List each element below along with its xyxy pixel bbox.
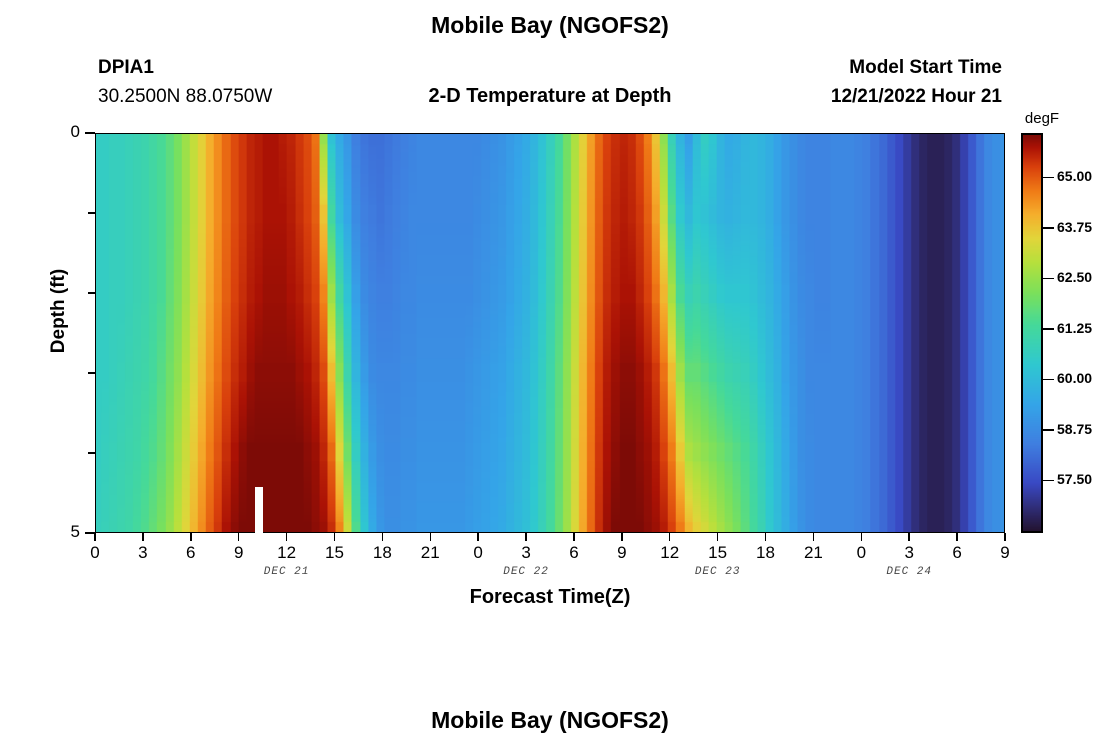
x-axis-tick	[286, 533, 288, 541]
x-axis-label: Forecast Time(Z)	[300, 586, 800, 609]
y-axis-minor-tick	[88, 292, 95, 294]
x-axis-tick	[573, 533, 575, 541]
y-axis-tick-label: 5	[40, 522, 80, 542]
x-axis-tick	[142, 533, 144, 541]
x-axis-tick-label: 21	[410, 543, 450, 563]
x-axis-date-label: DEC 22	[466, 566, 586, 578]
x-axis-tick-label: 12	[267, 543, 307, 563]
colorbar-tick-label: 62.50	[1057, 269, 1100, 285]
x-axis-tick-label: 3	[889, 543, 929, 563]
colorbar-tick	[1043, 177, 1054, 179]
x-axis-tick	[525, 533, 527, 541]
colorbar	[1021, 133, 1043, 533]
x-axis-tick-label: 0	[458, 543, 498, 563]
x-axis-tick-label: 6	[171, 543, 211, 563]
y-axis-tick-label: 0	[40, 122, 80, 142]
x-axis-date-label: DEC 24	[849, 566, 969, 578]
x-axis-tick	[334, 533, 336, 541]
x-axis-tick	[621, 533, 623, 541]
x-axis-tick-label: 0	[75, 543, 115, 563]
x-axis-tick-label: 15	[314, 543, 354, 563]
colorbar-tick-label: 60.00	[1057, 370, 1100, 386]
colorbar-tick	[1043, 480, 1054, 482]
x-axis-tick	[1004, 533, 1006, 541]
x-axis-tick	[477, 533, 479, 541]
x-axis-tick-label: 6	[554, 543, 594, 563]
x-axis-tick	[238, 533, 240, 541]
x-axis-tick	[956, 533, 958, 541]
no-data-gap	[255, 487, 263, 533]
colorbar-tick-label: 58.75	[1057, 421, 1100, 437]
x-axis-date-label: DEC 21	[227, 566, 347, 578]
colorbar-tick	[1043, 278, 1054, 280]
temperature-depth-heatmap	[95, 133, 1005, 533]
x-axis-tick	[430, 533, 432, 541]
colorbar-title: degF	[1002, 110, 1082, 127]
x-axis-tick	[669, 533, 671, 541]
x-axis-tick	[813, 533, 815, 541]
x-axis-tick-label: 18	[362, 543, 402, 563]
x-axis-tick-label: 9	[985, 543, 1025, 563]
main-title: Mobile Bay (NGOFS2)	[0, 12, 1100, 39]
x-axis-tick	[94, 533, 96, 541]
x-axis-tick	[382, 533, 384, 541]
colorbar-tick-label: 63.75	[1057, 219, 1100, 235]
colorbar-tick	[1043, 328, 1054, 330]
x-axis-tick-label: 15	[698, 543, 738, 563]
colorbar-canvas	[1023, 135, 1041, 531]
x-axis-date-label: DEC 23	[658, 566, 778, 578]
y-axis-minor-tick	[88, 212, 95, 214]
x-axis-tick	[765, 533, 767, 541]
x-axis-tick-label: 21	[793, 543, 833, 563]
x-axis-tick	[908, 533, 910, 541]
x-axis-tick-label: 0	[841, 543, 881, 563]
station-id: DPIA1	[98, 57, 154, 79]
x-axis-tick-label: 9	[602, 543, 642, 563]
heatmap-canvas	[96, 134, 1004, 532]
colorbar-tick	[1043, 379, 1054, 381]
colorbar-tick-label: 65.00	[1057, 168, 1100, 184]
x-axis-tick-label: 9	[219, 543, 259, 563]
footer-title: Mobile Bay (NGOFS2)	[0, 707, 1100, 734]
station-coordinates: 30.2500N 88.0750W	[98, 86, 272, 108]
model-start-time-value: 12/21/2022 Hour 21	[700, 86, 1002, 108]
x-axis-tick-label: 3	[123, 543, 163, 563]
x-axis-tick-label: 12	[650, 543, 690, 563]
y-axis-tick	[85, 132, 95, 134]
x-axis-tick-label: 18	[746, 543, 786, 563]
x-axis-tick	[717, 533, 719, 541]
y-axis-minor-tick	[88, 452, 95, 454]
colorbar-tick-label: 57.50	[1057, 471, 1100, 487]
x-axis-tick-label: 3	[506, 543, 546, 563]
colorbar-tick	[1043, 429, 1054, 431]
y-axis-minor-tick	[88, 372, 95, 374]
y-axis-label: Depth (ft)	[48, 231, 70, 391]
x-axis-tick	[190, 533, 192, 541]
x-axis-tick-label: 6	[937, 543, 977, 563]
colorbar-tick-label: 61.25	[1057, 320, 1100, 336]
x-axis-tick	[861, 533, 863, 541]
colorbar-tick	[1043, 227, 1054, 229]
model-start-time-label: Model Start Time	[700, 57, 1002, 79]
